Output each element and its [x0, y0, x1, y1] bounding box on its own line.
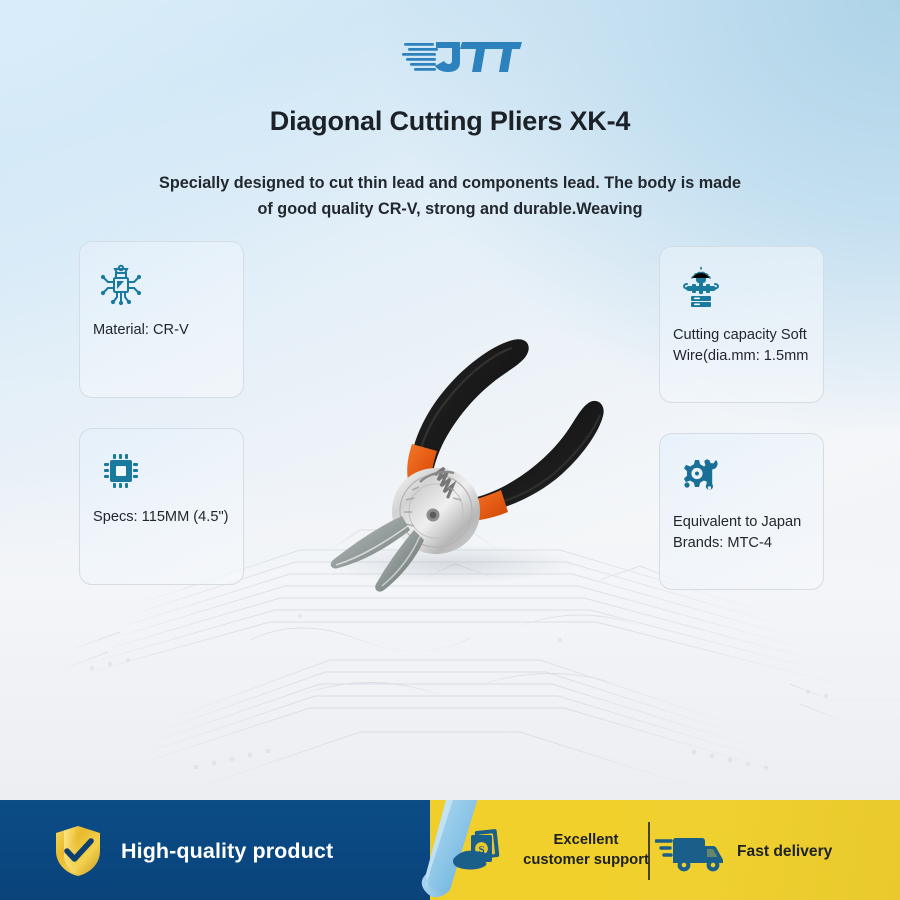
feature-card-text: Material: CR-V: [93, 320, 230, 341]
product-image-pliers: [300, 268, 630, 598]
banner-item-support: S Excellent customer support: [452, 826, 650, 874]
banner-item-delivery: Fast delivery: [655, 830, 832, 874]
bottom-trust-banner: High-quality product S Excellent custome…: [0, 800, 900, 900]
shield-check-icon: [52, 824, 104, 878]
jtt-logo: [402, 36, 522, 78]
page-description: Specially designed to cut thin lead and …: [150, 170, 750, 222]
cpu-chip-icon: [97, 447, 145, 495]
feature-card-text: Equivalent to Japan Brands: MTC-4: [673, 512, 810, 554]
banner-quality-label: High-quality product: [121, 839, 333, 864]
feature-card-japan-equivalent: Equivalent to Japan Brands: MTC-4: [659, 433, 824, 590]
wire-cutting-icon: [677, 265, 725, 313]
feature-card-text: Cutting capacity Soft Wire(dia.mm: 1.5mm: [673, 325, 810, 367]
feature-card-specs: Specs: 115MM (4.5"): [79, 428, 244, 585]
banner-divider: [648, 822, 650, 880]
banner-support-label: Excellent customer support: [522, 830, 650, 870]
money-hand-icon: S: [452, 826, 508, 874]
banner-item-quality: High-quality product: [52, 824, 333, 878]
infographic-canvas: Diagonal Cutting Pliers XK-4 Specially d…: [0, 0, 900, 900]
feature-card-material: Material: CR-V: [79, 241, 244, 398]
feature-card-text: Specs: 115MM (4.5"): [93, 507, 230, 528]
page-title: Diagonal Cutting Pliers XK-4: [0, 106, 900, 137]
gear-wrench-icon: [677, 452, 725, 500]
delivery-truck-icon: [655, 830, 725, 874]
circuit-chip-icon: [97, 260, 145, 308]
feature-card-cutting-capacity: Cutting capacity Soft Wire(dia.mm: 1.5mm: [659, 246, 824, 403]
banner-delivery-label: Fast delivery: [737, 843, 832, 861]
